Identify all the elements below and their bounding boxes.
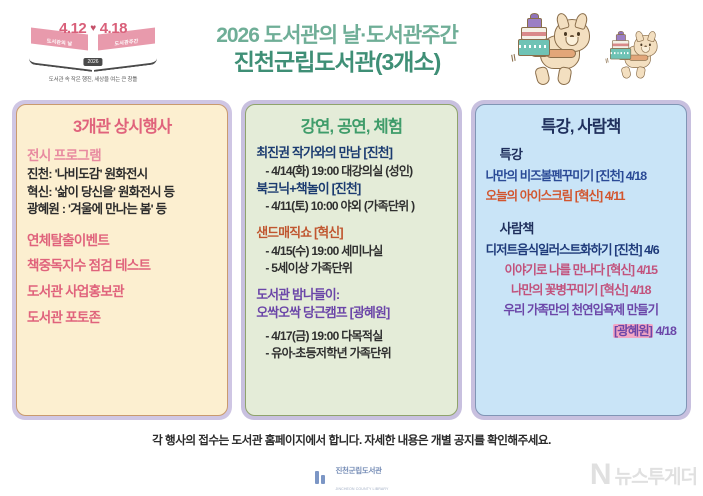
dog-head-small: [634, 35, 658, 57]
event-item: 책중독지수 점검 테스트: [27, 253, 217, 279]
panel-3-title: 특강, 사람책: [486, 113, 676, 137]
panel-special-lecture-human-book: 특강, 사람책 특강 나만의 비즈볼펜꾸미기 [진천] 4/18 오늘의 아이스…: [471, 100, 691, 420]
exhibit-item: 혁신: '삶이 당신을' 원화전시 등: [27, 184, 217, 202]
watermark-text: 뉴스투게더: [615, 462, 697, 489]
spacer: [27, 219, 217, 228]
dog-ear-left-small: [634, 30, 644, 42]
dog-ear-right: [574, 12, 589, 30]
panel-lecture-performance: 강연, 공연, 체험 최진권 작가와의 만남 [진천] - 4/14(화) 19…: [241, 100, 461, 420]
small-dog-with-gifts-icon: //: [610, 31, 667, 79]
library-logo-mark-icon: [314, 471, 330, 484]
dog-eye-right: [577, 32, 580, 36]
program-detail: - 4/15(수) 19:00 세미나실: [256, 243, 446, 260]
poster-root: 도서관의 날 도서관주간 4.12 ♥ 4.18 2026 도서관 속 작은 행…: [0, 0, 703, 496]
panel-1-title: 3개관 상시행사: [27, 113, 217, 137]
news-watermark: N 뉴스투게더: [590, 460, 697, 490]
human-book-item: 이야기로 나를 만나다 [혁신] 4/15: [486, 260, 676, 280]
program-title: 북크닉+책놀이 [진천]: [256, 180, 446, 199]
program-subtitle: 오싹오싹 당근캠프 [광혜원]: [256, 304, 446, 323]
panel-1-section-head: 전시 프로그램: [27, 144, 217, 164]
library-day-week-logo: 도서관의 날 도서관주간 4.12 ♥ 4.18 2026 도서관 속 작은 행…: [18, 11, 168, 89]
program-detail: - 4/17(금) 19:00 다목적실: [256, 328, 446, 345]
event-item: 도서관 사업홍보관: [27, 279, 217, 305]
program-panels: 3개관 상시행사 전시 프로그램 진천: '나비도감' 원화전시 혁신: '삶이…: [0, 100, 703, 420]
dog-eye-left: [564, 32, 567, 36]
program-title: 도서관 밤나들이:: [256, 286, 446, 305]
dog-leg-left-small: [621, 66, 632, 80]
gift-box-bottom: [518, 39, 550, 56]
gift-stack-icon-small: [610, 34, 632, 60]
program-title: 최진권 작가와의 만남 [진천]: [256, 144, 446, 163]
program-detail: - 유아-초등저학년 가족단위: [256, 345, 446, 362]
program-detail: - 4/11(토) 10:00 야외 (가족단위 ): [256, 198, 446, 215]
dog-eye-left-small: [640, 44, 642, 47]
library-logo-subtitle: JINCHEON COUNTY LIBRARY: [335, 487, 388, 491]
motion-lines-icon: //: [509, 52, 517, 63]
logo-date-end: 4.18: [100, 20, 127, 37]
program-title: 샌드매직쇼 [혁신]: [256, 224, 446, 243]
dog-leg-right: [557, 66, 573, 86]
spacer: [486, 206, 676, 215]
mascot-illustrations: //: [500, 7, 685, 93]
special-lecture-item: 오늘의 아이스크림 [혁신] 4/11: [486, 186, 676, 206]
spacer: [256, 277, 446, 286]
human-book-date: 4/18: [653, 324, 676, 338]
poster-footer: 각 행사의 접수는 도서관 홈페이지에서 합니다. 자세한 내용은 개별 공지를…: [0, 420, 703, 496]
heart-icon: ♥: [90, 23, 95, 34]
gift-stack-icon: [518, 17, 552, 57]
gift-box-bottom-small: [610, 48, 631, 59]
library-logo-name: 진천군립도서관: [335, 466, 381, 475]
special-lecture-item: 나만의 비즈볼펜꾸미기 [진천] 4/18: [486, 166, 676, 186]
panel-always-on-events: 3개관 상시행사 전시 프로그램 진천: '나비도감' 원화전시 혁신: '삶이…: [12, 100, 232, 420]
open-book-icon: 도서관의 날 도서관주간 4.12 ♥ 4.18 2026: [27, 18, 159, 72]
exhibit-item: 광혜원 : '겨울에 만나는 봄' 등: [27, 201, 217, 219]
panel-3-subheading-special: 특강: [486, 144, 676, 163]
dog-head: [554, 19, 590, 52]
dog-eye-right-small: [649, 44, 651, 47]
library-logo: 진천군립도서관 JINCHEON COUNTY LIBRARY: [314, 461, 388, 495]
motion-lines-icon-small: //: [604, 57, 609, 64]
logo-date-start: 4.12: [59, 20, 86, 37]
human-book-item-location: [광혜원] 4/18: [486, 321, 676, 341]
dog-snout-small: [641, 47, 650, 53]
event-item: 도서관 포토존: [27, 305, 217, 331]
human-book-item: 우리 가족만의 천연입욕제 만들기: [486, 300, 676, 320]
footer-note: 각 행사의 접수는 도서관 홈페이지에서 합니다. 자세한 내용은 개별 공지를…: [0, 432, 703, 448]
exhibit-item: 진천: '나비도감' 원화전시: [27, 166, 217, 184]
program-detail: - 4/14(화) 19:00 대강의실 (성인): [256, 163, 446, 180]
poster-header: 도서관의 날 도서관주간 4.12 ♥ 4.18 2026 도서관 속 작은 행…: [0, 0, 703, 100]
logo-date-range: 4.12 ♥ 4.18: [27, 20, 159, 37]
dog-snout: [566, 37, 579, 46]
spacer: [256, 215, 446, 224]
human-book-item: 나만의 꽃병꾸미기 [혁신] 4/18: [486, 280, 676, 300]
human-book-item: 디저트음식일러스트화하기 [진천] 4/6: [486, 240, 676, 260]
title-line-2: 진천군립도서관(3개소): [174, 49, 500, 76]
logo-tagline: 도서관 속 작은 행진, 세상을 여는 큰 창틀: [49, 75, 137, 83]
panel-3-subheading-humanbook: 사람책: [486, 218, 676, 237]
program-detail: - 5세이상 가족단위: [256, 260, 446, 277]
location-badge: [광혜원]: [613, 324, 653, 338]
logo-year: 2026: [83, 58, 102, 66]
panel-2-title: 강연, 공연, 체험: [256, 113, 446, 137]
dog-ear-right-small: [647, 30, 657, 42]
title-line-1: 2026 도서관의 날·도서관주간: [174, 24, 500, 49]
dog-with-gifts-icon: //: [518, 13, 604, 85]
dog-ear-left: [555, 12, 570, 30]
dog-leg-left: [534, 66, 551, 87]
event-item: 연체탈출이벤트: [27, 228, 217, 254]
page-title: 2026 도서관의 날·도서관주간 진천군립도서관(3개소): [168, 24, 500, 76]
watermark-mark-icon: N: [590, 460, 610, 490]
dog-leg-right-small: [635, 66, 646, 79]
